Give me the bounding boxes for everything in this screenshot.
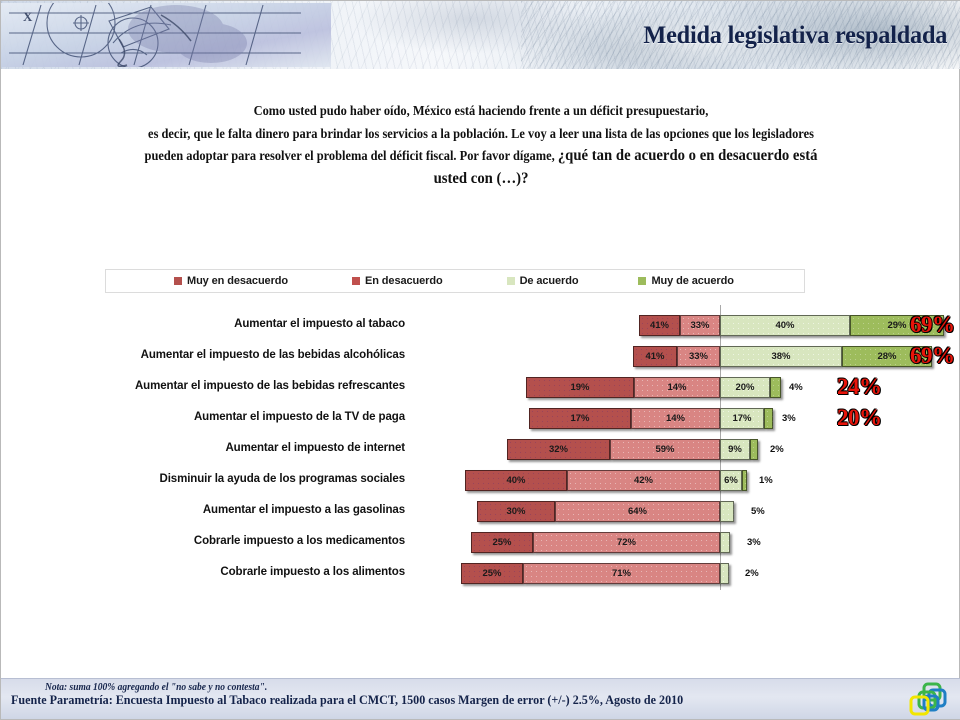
legend-swatch-icon	[507, 277, 515, 285]
bar-segment-muy-en-desacuerdo[interactable]: 25%	[471, 532, 533, 553]
table-row: Aumentar el impuesto de las bebidas alco…	[105, 340, 957, 370]
bar-segment-de-acuerdo[interactable]	[720, 532, 730, 553]
bar-segment-en-desacuerdo[interactable]: 42%	[567, 470, 720, 491]
legend-item-muy-de-acuerdo[interactable]: Muy de acuerdo	[638, 275, 733, 287]
bar-segment-muy-de-acuerdo[interactable]	[770, 377, 781, 398]
bar-segment-en-desacuerdo[interactable]: 33%	[677, 346, 720, 367]
bar-segment-en-desacuerdo[interactable]: 59%	[610, 439, 720, 460]
slide: X Medida legislativa respaldada Como ust…	[0, 0, 960, 720]
question-line-2: es decir, que le falta dinero para brind…	[73, 123, 890, 146]
outside-value-label: 1%	[759, 470, 773, 491]
chart-legend: Muy en desacuerdo En desacuerdo De acuer…	[105, 269, 805, 293]
bar-group: 30% 64% 5%	[105, 495, 957, 525]
legend-label: De acuerdo	[520, 275, 579, 287]
legend-swatch-icon	[174, 277, 182, 285]
bar-segment-muy-en-desacuerdo[interactable]: 30%	[477, 501, 555, 522]
total-agreement-annotation: 69%	[910, 311, 955, 339]
bar-segment-de-acuerdo[interactable]	[720, 501, 734, 522]
diverging-bar-chart: Aumentar el impuesto al tabaco 41% 33% 4…	[105, 301, 957, 601]
bar-segment-muy-de-acuerdo[interactable]	[764, 408, 773, 429]
question-line-1: Como usted pudo haber oído, México está …	[73, 100, 890, 123]
bar-segment-muy-en-desacuerdo[interactable]: 41%	[633, 346, 677, 367]
bar-segment-muy-en-desacuerdo[interactable]: 25%	[461, 563, 523, 584]
bar-group: 17% 14% 17% 3% 20%	[105, 402, 957, 432]
outside-value-label: 3%	[782, 408, 796, 429]
table-row: Aumentar el impuesto a las gasolinas 30%…	[105, 495, 957, 525]
header-banner: X Medida legislativa respaldada	[1, 1, 960, 69]
question-text: Como usted pudo haber oído, México está …	[73, 100, 890, 190]
table-row: Cobrarle impuesto a los alimentos 25% 71…	[105, 557, 957, 587]
total-agreement-annotation: 24%	[837, 373, 882, 401]
total-agreement-annotation: 69%	[910, 342, 955, 370]
page-title: Medida legislativa respaldada	[643, 22, 947, 50]
legend-swatch-icon	[638, 277, 646, 285]
legend-swatch-icon	[352, 277, 360, 285]
bar-group: 41% 33% 40% 29% 69%	[105, 309, 957, 339]
bar-group: 25% 72% 3%	[105, 526, 957, 556]
table-row: Disminuir la ayuda de los programas soci…	[105, 464, 957, 494]
bar-group: 25% 71% 2%	[105, 557, 957, 587]
footer-bar: Nota: suma 100% agregando el "no sabe y …	[1, 678, 960, 719]
bar-segment-de-acuerdo[interactable]	[720, 563, 729, 584]
bar-segment-en-desacuerdo[interactable]: 71%	[523, 563, 720, 584]
bar-segment-muy-de-acuerdo[interactable]	[742, 470, 747, 491]
question-line-4: usted con (…)?	[73, 168, 890, 191]
bar-group: 32% 59% 9% 2%	[105, 433, 957, 463]
svg-text:X: X	[23, 9, 33, 24]
bar-segment-de-acuerdo[interactable]: 17%	[720, 408, 764, 429]
table-row: Aumentar el impuesto de las bebidas refr…	[105, 371, 957, 401]
parametria-logo-icon	[907, 682, 951, 716]
outside-value-label: 2%	[770, 439, 784, 460]
bar-segment-de-acuerdo[interactable]: 9%	[720, 439, 750, 460]
total-agreement-annotation: 20%	[837, 404, 882, 432]
table-row: Aumentar el impuesto de la TV de paga 17…	[105, 402, 957, 432]
bar-segment-en-desacuerdo[interactable]: 72%	[533, 532, 720, 553]
bar-segment-de-acuerdo[interactable]: 40%	[720, 315, 850, 336]
legend-item-muy-en-desacuerdo[interactable]: Muy en desacuerdo	[174, 275, 288, 287]
bar-group: 40% 42% 6% 1%	[105, 464, 957, 494]
outside-value-label: 5%	[751, 501, 765, 522]
table-row: Aumentar el impuesto de internet 32% 59%…	[105, 433, 957, 463]
bar-segment-muy-en-desacuerdo[interactable]: 41%	[639, 315, 680, 336]
table-row: Aumentar el impuesto al tabaco 41% 33% 4…	[105, 309, 957, 339]
question-line-3: pueden adoptar para resolver el problema…	[73, 145, 890, 168]
bar-segment-muy-en-desacuerdo[interactable]: 40%	[465, 470, 567, 491]
legend-label: Muy de acuerdo	[651, 275, 733, 287]
outside-value-label: 4%	[789, 377, 803, 398]
footer-source: Fuente Parametría: Encuesta Impuesto al …	[11, 692, 683, 708]
bar-segment-muy-en-desacuerdo[interactable]: 17%	[529, 408, 631, 429]
legend-label: En desacuerdo	[365, 275, 443, 287]
legend-item-de-acuerdo[interactable]: De acuerdo	[507, 275, 579, 287]
bar-segment-en-desacuerdo[interactable]: 14%	[634, 377, 720, 398]
bar-segment-en-desacuerdo[interactable]: 64%	[555, 501, 720, 522]
bar-segment-muy-de-acuerdo[interactable]	[750, 439, 758, 460]
legend-label: Muy en desacuerdo	[187, 275, 288, 287]
bar-segment-de-acuerdo[interactable]: 20%	[720, 377, 770, 398]
bar-segment-de-acuerdo[interactable]: 38%	[720, 346, 842, 367]
bar-segment-en-desacuerdo[interactable]: 14%	[631, 408, 720, 429]
banner-blueprint-art: X	[1, 3, 331, 67]
bar-group: 19% 14% 20% 4% 24%	[105, 371, 957, 401]
outside-value-label: 2%	[745, 563, 759, 584]
bar-segment-en-desacuerdo[interactable]: 33%	[680, 315, 720, 336]
question-line-3-emph: ¿qué tan de acuerdo o en desacuerdo está	[558, 147, 818, 164]
legend-item-en-desacuerdo[interactable]: En desacuerdo	[352, 275, 443, 287]
outside-value-label: 3%	[747, 532, 761, 553]
bar-segment-muy-en-desacuerdo[interactable]: 19%	[526, 377, 634, 398]
question-line-3-plain: pueden adoptar para resolver el problema…	[145, 148, 558, 163]
bar-segment-muy-en-desacuerdo[interactable]: 32%	[507, 439, 610, 460]
bar-segment-de-acuerdo[interactable]: 6%	[720, 470, 742, 491]
bar-group: 41% 33% 38% 28% 69%	[105, 340, 957, 370]
table-row: Cobrarle impuesto a los medicamentos 25%…	[105, 526, 957, 556]
